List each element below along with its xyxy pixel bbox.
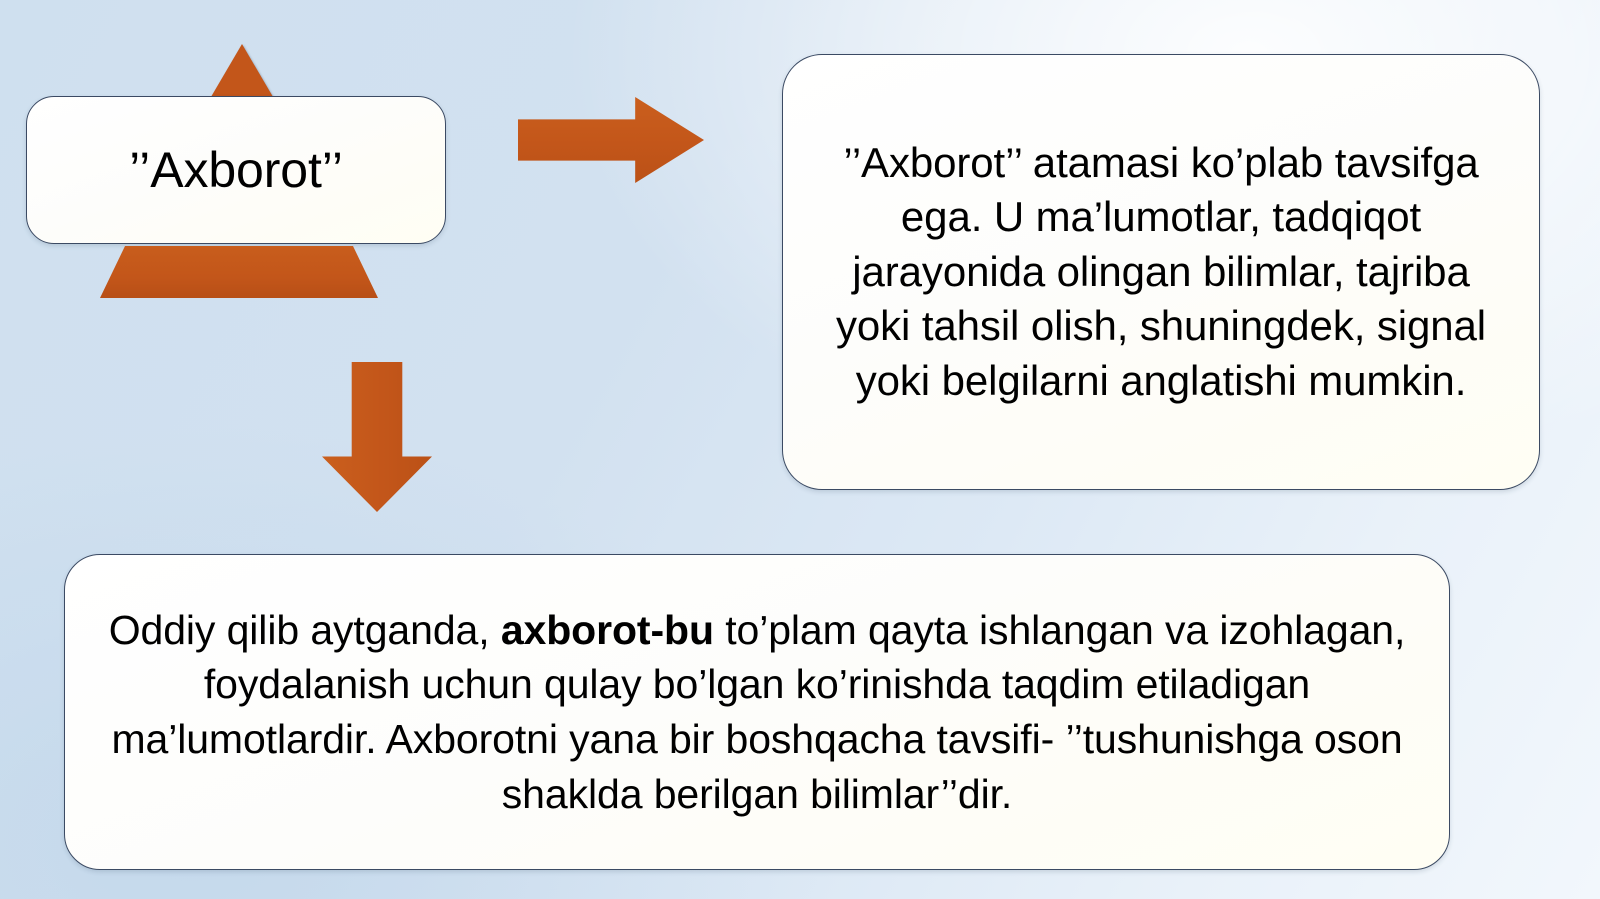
term-box[interactable]: ’’Axborot’’: [26, 96, 446, 244]
up-triangle-icon: [208, 44, 276, 102]
definition-box-text: ’’Axborot’’ atamasi ko’plab tavsifga ega…: [817, 136, 1505, 409]
down-trapezoid-icon: [100, 246, 378, 298]
right-arrow-icon: [518, 97, 704, 183]
slide-canvas: ’’Axborot’’ ’’Axborot’’ atamasi ko’plab …: [0, 0, 1600, 899]
summary-box[interactable]: Oddiy qilib aytganda, axborot-bu to’plam…: [64, 554, 1450, 870]
summary-bold-term: axborot-bu: [501, 607, 714, 653]
summary-box-text: Oddiy qilib aytganda, axborot-bu to’plam…: [99, 603, 1415, 821]
down-arrow-shape: [322, 362, 432, 512]
up-triangle-shape: [208, 44, 276, 102]
down-trapezoid-shape: [100, 246, 378, 298]
down-arrow-icon: [322, 362, 432, 512]
right-arrow-shape: [518, 97, 704, 183]
summary-text-before: Oddiy qilib aytganda,: [109, 607, 501, 653]
definition-box[interactable]: ’’Axborot’’ atamasi ko’plab tavsifga ega…: [782, 54, 1540, 490]
term-box-label: ’’Axborot’’: [27, 144, 445, 197]
